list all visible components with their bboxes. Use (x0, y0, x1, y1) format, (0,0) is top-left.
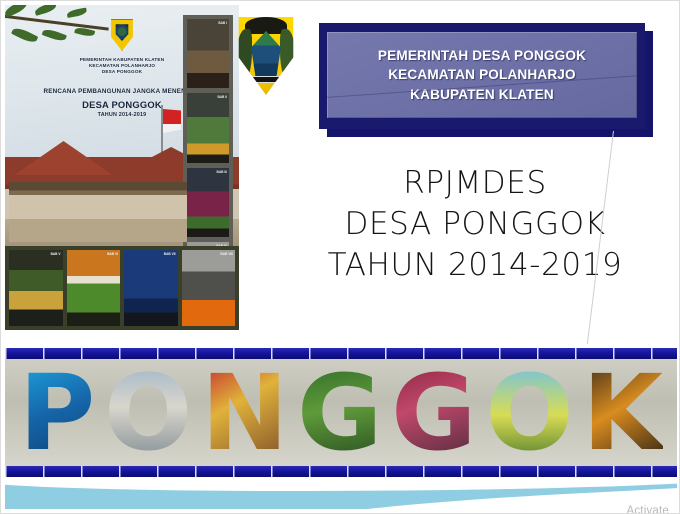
thumbnail-card: BAB II (187, 93, 229, 162)
ponggok-letters: P O N G G O K (5, 359, 677, 466)
leafy-branch-decoration (5, 7, 111, 59)
letter-g-field: G (297, 361, 382, 465)
cover-emblem-icon (109, 19, 135, 51)
grid-photo-cell: BAB VIII (182, 250, 236, 326)
thumbnail-card: BAB III (187, 168, 229, 237)
letter-k-bamboo: K (582, 361, 663, 465)
letter-n-dancers: N (201, 361, 288, 465)
banner-water-wave-footer (5, 477, 677, 509)
banner-bottom-band (5, 466, 677, 477)
letter-g-harvest: G (391, 361, 476, 465)
grid-photo-cell: BAB VII (124, 250, 178, 326)
indonesian-flag-icon (163, 109, 181, 133)
presentation-slide: PEMERINTAH KABUPATEN KLATEN KECAMATAN PO… (0, 0, 680, 514)
header-line-3: KABUPATEN KLATEN (378, 85, 586, 105)
title-line-2: DESA PONGGOK (287, 204, 663, 245)
klaten-regency-emblem-icon (235, 17, 297, 95)
banner-top-band (5, 348, 677, 359)
cover-photo-grid: BAB V BAB VI BAB VII BAB VIII (5, 246, 239, 330)
letter-o-paddy: O (485, 361, 573, 465)
grid-photo-cell: BAB VI (67, 250, 121, 326)
thumbnail-card: BAB I (187, 19, 229, 88)
header-box-fill: PEMERINTAH DESA PONGGOK KECAMATAN POLANH… (327, 32, 637, 118)
letter-o-village: O (104, 361, 192, 465)
grid-photo-cell: BAB V (9, 250, 63, 326)
cover-wide-photo (9, 182, 187, 242)
header-line-1: PEMERINTAH DESA PONGGOK (378, 46, 586, 66)
banner-letters-area: P O N G G O K (5, 359, 677, 466)
letter-p-water: P (19, 361, 95, 465)
windows-activation-watermark: Activate (626, 505, 669, 514)
header-line-2: KECAMATAN POLANHARJO (378, 65, 586, 85)
header-title-box: PEMERINTAH DESA PONGGOK KECAMATAN POLANH… (319, 23, 645, 129)
header-text: PEMERINTAH DESA PONGGOK KECAMATAN POLANH… (378, 46, 586, 105)
title-line-3: TAHUN 2014-2019 (287, 245, 663, 286)
rpjmdes-book-cover-image: PEMERINTAH KABUPATEN KLATEN KECAMATAN PO… (5, 5, 239, 330)
header-box-frame: PEMERINTAH DESA PONGGOK KECAMATAN POLANH… (319, 23, 645, 129)
ponggok-photo-banner: P O N G G O K (5, 344, 677, 509)
